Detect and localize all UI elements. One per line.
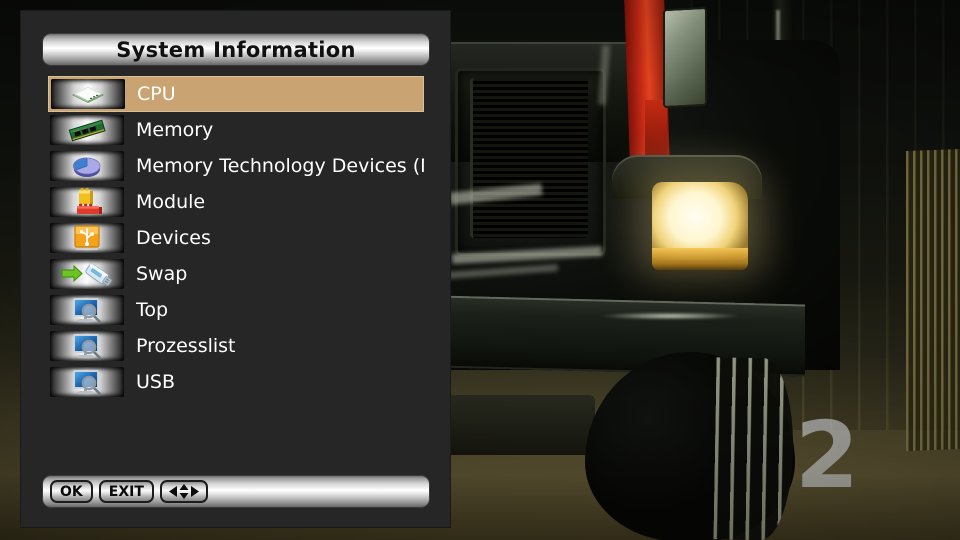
- system-information-panel: System Information CPU: [21, 11, 450, 527]
- swap-flashdrive-icon: [50, 259, 124, 289]
- monitor-search-icon: [50, 295, 124, 325]
- osd-screen: 2 System Information CPU: [0, 0, 960, 540]
- menu-item-memory-technology-devices-mtd[interactable]: Memory Technology Devices (MTD: [48, 148, 424, 184]
- menu-item-devices[interactable]: Devices: [48, 220, 424, 256]
- pie-chart-icon: [50, 151, 124, 181]
- menu-item-swap[interactable]: Swap: [48, 256, 424, 292]
- menu-item-module[interactable]: Module: [48, 184, 424, 220]
- button-bar: OK EXIT: [42, 475, 430, 508]
- menu-item-label: CPU: [137, 83, 176, 105]
- menu-item-label: Module: [136, 191, 205, 213]
- menu-item-label: Prozesslist: [136, 335, 236, 357]
- panel-title-bar: System Information: [42, 33, 430, 66]
- exit-button[interactable]: EXIT: [99, 480, 154, 503]
- menu-item-usb[interactable]: USB: [48, 364, 424, 400]
- cpu-chip-icon: [51, 79, 125, 109]
- ok-button[interactable]: OK: [50, 480, 93, 503]
- menu-item-label: Top: [136, 299, 168, 321]
- menu-item-label: Swap: [136, 263, 187, 285]
- ram-module-icon: [50, 115, 124, 145]
- menu-item-prozesslist[interactable]: Prozesslist: [48, 328, 424, 364]
- menu-item-memory[interactable]: Memory: [48, 112, 424, 148]
- dpad-arrows-icon: [169, 484, 199, 499]
- usb-device-icon: [50, 223, 124, 253]
- menu-item-cpu[interactable]: CPU: [48, 76, 424, 112]
- menu-item-label: Devices: [136, 227, 211, 249]
- system-information-menu[interactable]: CPU Memory: [48, 76, 424, 400]
- lego-bricks-icon: [50, 187, 124, 217]
- page-title: System Information: [116, 38, 356, 62]
- menu-item-label: Memory Technology Devices (MTD: [136, 155, 424, 177]
- menu-item-label: Memory: [136, 119, 213, 141]
- menu-item-top[interactable]: Top: [48, 292, 424, 328]
- menu-item-label: USB: [136, 371, 175, 393]
- dpad-button[interactable]: [160, 480, 208, 503]
- monitor-search-icon: [50, 367, 124, 397]
- monitor-search-icon: [50, 331, 124, 361]
